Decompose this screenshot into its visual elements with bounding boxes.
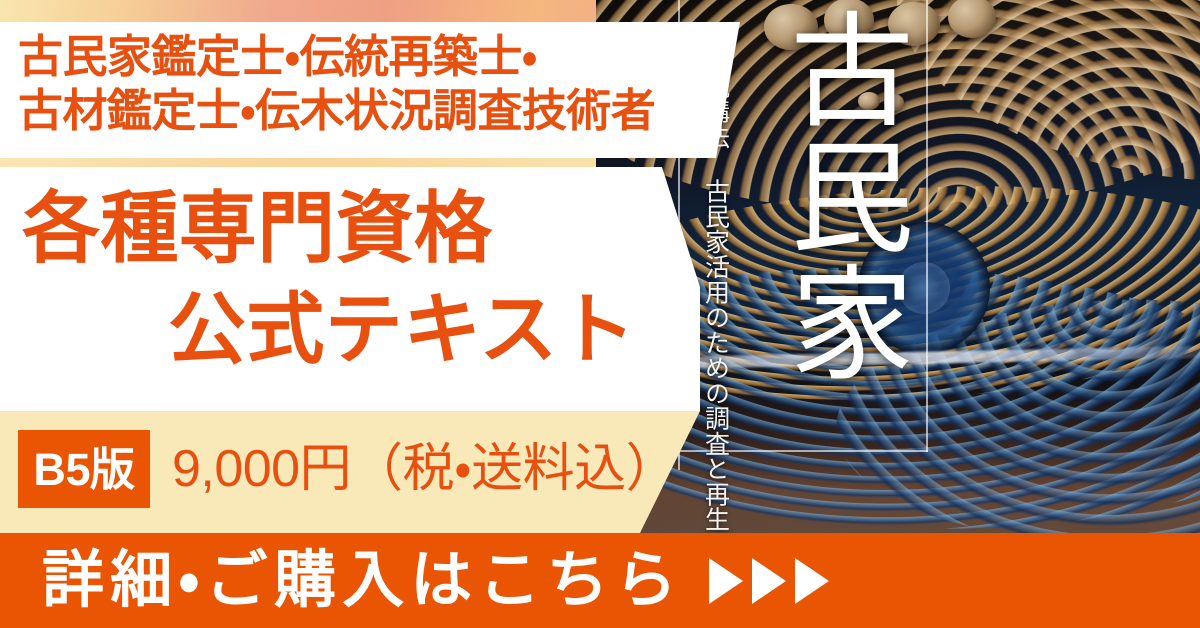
main-title-line-2: 公式テキスト xyxy=(0,279,690,380)
format-badge-b5: B5版 xyxy=(18,430,150,508)
qualification-heading-line-1: 古民家鑑定士・伝統再築士・ xyxy=(18,30,718,84)
price-row: B5版 9,000円（税・送料込） xyxy=(18,427,677,511)
cta-bar[interactable]: 詳細・ご購入はこちら xyxy=(0,533,1200,628)
cover-frame-line-right xyxy=(926,0,928,452)
cta-label[interactable]: 詳細・ご購入はこちら xyxy=(42,550,683,612)
triangle-right-icon xyxy=(795,558,829,604)
main-title-line-1: 各種専門資格 xyxy=(0,178,690,279)
triangle-right-icon xyxy=(752,558,786,604)
book-cover-title: 古民家 xyxy=(780,6,910,385)
price-amount: 9,000円（税・送料込） xyxy=(172,443,677,495)
main-title: 各種専門資格 公式テキスト xyxy=(0,178,690,379)
cta-arrow-group xyxy=(709,558,829,604)
qualification-heading-line-2: 古材鑑定士・伝木状況調査技術者 xyxy=(18,84,718,138)
triangle-right-icon xyxy=(709,558,743,604)
qualification-heading: 古民家鑑定士・伝統再築士・ 古材鑑定士・伝木状況調査技術者 xyxy=(18,30,718,139)
promo-banner: 伝統構法 古民家活用のための調査と再生の 古民家 古民家鑑定士・伝統再築士・ 古… xyxy=(0,0,1200,628)
